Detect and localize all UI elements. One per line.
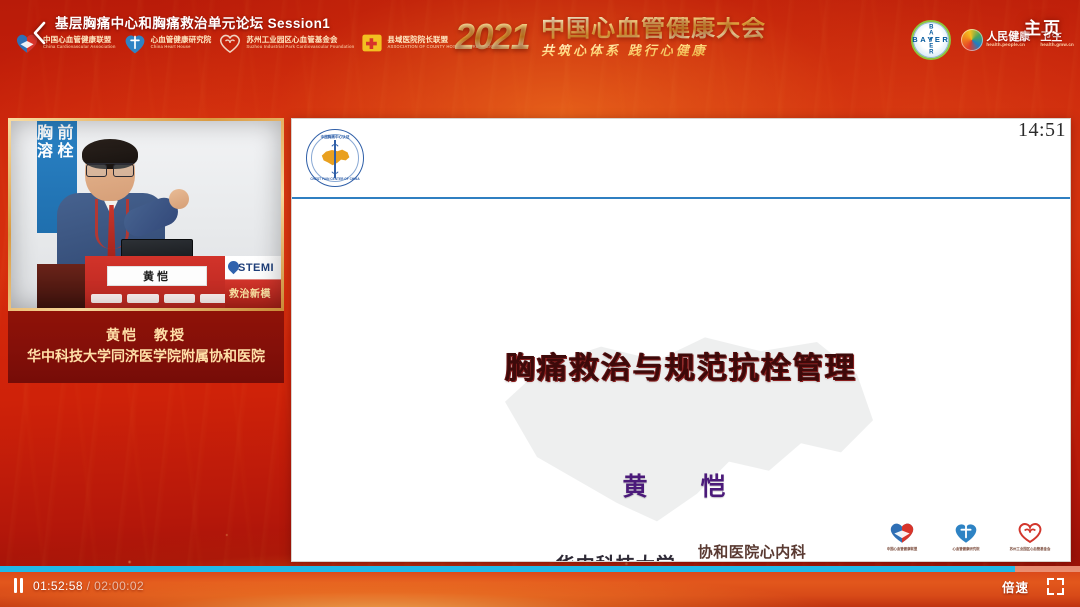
people-health-icon (961, 29, 983, 51)
speaker-hand (169, 189, 189, 209)
health-gmw-url: health.gmw.cn (1040, 43, 1074, 48)
slide-area[interactable]: 14:51 中国胸痛中心认证 CHEST PAIN CENTER OF CHIN… (291, 118, 1071, 562)
heart-outline-icon (217, 30, 243, 56)
conference-name: 中国心血管健康大会 (541, 17, 766, 41)
back-button[interactable] (26, 18, 52, 48)
pause-button[interactable] (14, 578, 23, 593)
partner-logo-chh: 心血管健康研究院 China Heart House (122, 29, 212, 57)
speaker-caption: 黄恺 教授 华中科技大学同济医学院附属协和医院 (8, 311, 284, 383)
partner-logo-foundation-en: Suzhou Industrial Park Cardiovascular Fo… (246, 45, 354, 50)
slide-footer-logos: 中国心血管健康联盟 心血管健康研究院 苏州工业园区心血管基金会 (878, 519, 1054, 551)
page-header: 基层胸痛中心和胸痛救治单元论坛 Session1 中国心血管健康联盟 China… (0, 0, 1080, 80)
slide-footer-logo-cca-caption: 中国心血管健康联盟 (887, 547, 918, 551)
speaker-panel: 胸 前 溶 栓 · · · · 黄恺 (8, 118, 284, 383)
partner-logo-row: 中国心血管健康联盟 China Cardiovascular Associati… (14, 28, 495, 58)
playback-speed-button[interactable]: 倍速 (1002, 577, 1029, 596)
stemi-poster: STEMI 救治新模式 (225, 256, 281, 308)
seal-snake (330, 144, 341, 174)
slide-footer-logo-foundation-caption: 苏州工业园区心血管基金会 (1010, 547, 1051, 551)
home-button[interactable]: 主页 (1020, 12, 1066, 41)
china-heart-house-icon (122, 30, 148, 56)
speaker-nameplate: 黄恺 (107, 266, 207, 286)
player-left-controls: 01:52:58 / 02:00:02 (14, 578, 144, 593)
people-health-url: health.people.cn (986, 43, 1030, 48)
heart-outline-icon (1014, 519, 1046, 545)
partner-logo-chh-en: China Heart House (151, 45, 212, 50)
slide-clock: 14:51 (1018, 119, 1066, 142)
heart-handshake-icon (886, 519, 918, 545)
seal-text-bottom: CHEST PAIN CENTER OF CHINA (307, 177, 363, 181)
progress-bar-fill (0, 566, 1015, 572)
stemi-subtitle: 救治新模式 (229, 287, 277, 303)
pause-icon-bar-left (14, 578, 17, 593)
slide-footer-logo-cca: 中国心血管健康联盟 (878, 519, 926, 551)
slide-footer-logo-chh: 心血管健康研究院 (942, 519, 990, 551)
total-time: 02:00:02 (94, 579, 144, 593)
slide-divider (292, 197, 1070, 199)
speaker-video[interactable]: 胸 前 溶 栓 · · · · 黄恺 (8, 118, 284, 311)
conference-slogan: 共筑心体系 践行心健康 (541, 44, 766, 57)
slide-title: 胸痛救治与规范抗栓管理 (292, 343, 1070, 387)
player-bar-background (0, 566, 1080, 607)
conference-banner: 2021 中国心血管健康大会 共筑心体系 践行心健康 (455, 6, 855, 68)
fullscreen-icon[interactable] (1047, 578, 1064, 595)
slide-footer-logo-chh-caption: 心血管健康研究院 (952, 547, 979, 551)
slide-footer-logo-foundation: 苏州工业园区心血管基金会 (1006, 519, 1054, 551)
county-hospital-icon (360, 31, 384, 55)
progress-bar[interactable] (0, 566, 1080, 572)
time-separator: / (87, 579, 91, 593)
pause-icon-bar-right (20, 578, 23, 593)
conference-year: 2021 (455, 19, 533, 55)
speaker-glasses (86, 163, 134, 174)
slide-department-line1: 协和医院心内科 (698, 543, 807, 562)
live-stream-player: 基层胸痛中心和胸痛救治单元论坛 Session1 中国心血管健康联盟 China… (0, 0, 1080, 607)
slide-university: 华中科技大学 (556, 550, 676, 562)
stemi-title: STEMI (238, 262, 274, 274)
chest-pain-center-seal-icon: 中国胸痛中心认证 CHEST PAIN CENTER OF CHINA (306, 129, 364, 187)
presentation-slide: 14:51 中国胸痛中心认证 CHEST PAIN CENTER OF CHIN… (291, 118, 1071, 562)
bayer-logo-cross: BAYER (929, 24, 933, 55)
speaker-nameplate-text: 黄恺 (143, 268, 171, 284)
current-time: 01:52:58 (33, 579, 83, 593)
speaker-organization: 华中科技大学同济医学院附属协和医院 (14, 346, 278, 367)
speaker-name: 黄恺 教授 (14, 325, 278, 346)
partner-logo-cca-en: China Cardiovascular Association (43, 45, 116, 50)
chevron-left-icon (32, 21, 47, 45)
bayer-logo-icon: BAYER BAYER (911, 20, 951, 60)
player-control-bar: 01:52:58 / 02:00:02 倍速 (0, 566, 1080, 607)
slide-presenter-name: 黄 恺 (292, 467, 1070, 503)
podium-logo-strip (91, 293, 231, 304)
podium-side (37, 264, 89, 308)
partner-logo-foundation: 苏州工业园区心血管基金会 Suzhou Industrial Park Card… (217, 29, 354, 57)
player-right-controls: 倍速 (1002, 577, 1064, 596)
china-heart-house-icon (950, 519, 982, 545)
time-display: 01:52:58 / 02:00:02 (33, 579, 144, 593)
